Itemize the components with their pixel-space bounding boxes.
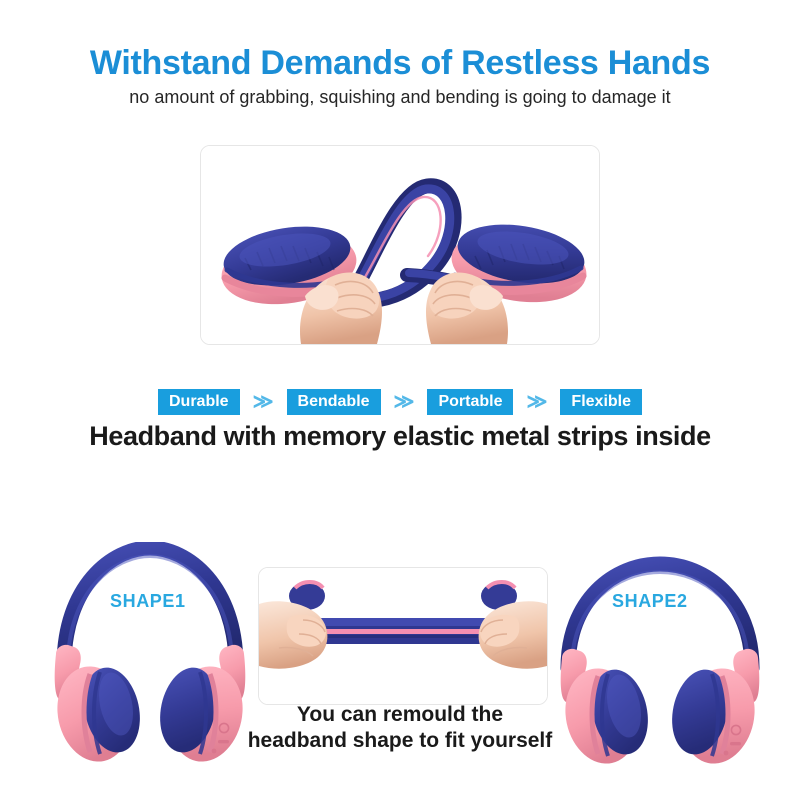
hands-bending-headband-into-loop-illustration	[201, 146, 599, 344]
product-feature-page: Withstand Demands of Restless Hands no a…	[0, 0, 800, 800]
page-subtitle: no amount of grabbing, squishing and ben…	[0, 87, 800, 108]
badge-flexible: Flexible	[560, 389, 642, 415]
page-title: Withstand Demands of Restless Hands	[0, 44, 800, 83]
caption-line-1: You can remould the	[0, 703, 800, 727]
badge-portable: Portable	[427, 389, 513, 415]
chevron-right-icon: ≫	[381, 393, 428, 412]
hands-straightening-headband-illustration	[259, 568, 547, 704]
shape2-label: SHAPE2	[612, 591, 688, 612]
headband-feature-title: Headband with memory elastic metal strip…	[0, 421, 800, 452]
badge-bendable: Bendable	[287, 389, 381, 415]
chevron-right-icon: ≫	[240, 393, 287, 412]
shape1-label: SHAPE1	[110, 591, 186, 612]
feature-badge-row: Durable ≫ Bendable ≫ Portable ≫ Flexible	[0, 389, 800, 415]
photo-card-straighten-band	[258, 567, 548, 705]
caption-line-2: headband shape to fit yourself	[0, 729, 800, 753]
chevron-right-icon: ≫	[513, 393, 560, 412]
badge-durable: Durable	[158, 389, 240, 415]
straightened-headband	[301, 618, 505, 644]
photo-card-bending-loop	[200, 145, 600, 345]
